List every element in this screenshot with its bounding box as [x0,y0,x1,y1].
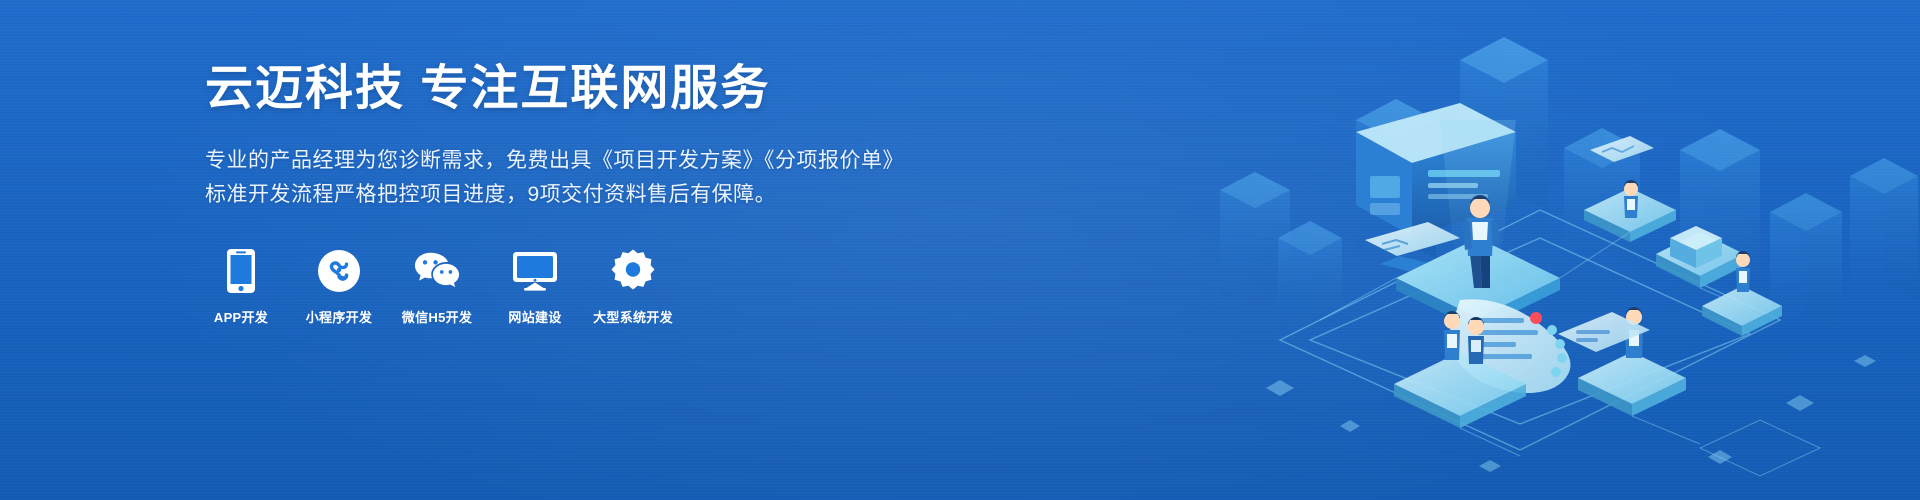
wechat-icon [414,248,460,294]
gear-icon [610,248,656,294]
monitor-icon [512,248,558,294]
background-buildings [1220,37,1918,330]
service-label-wechat: 微信H5开发 [402,307,472,326]
service-item-website[interactable]: 网站建设 [499,248,571,326]
service-list: APP开发 小程序开发 [205,248,965,326]
hero-banner: 云迈科技 专注互联网服务 专业的产品经理为您诊断需求，免费出具《项目开发方案》《… [0,0,1920,500]
service-item-wechat[interactable]: 微信H5开发 [401,248,473,326]
service-item-app[interactable]: APP开发 [205,248,277,326]
service-label-miniprogram: 小程序开发 [306,307,373,326]
mobile-phone-icon [218,248,264,294]
service-label-website: 网站建设 [508,307,561,326]
service-label-system: 大型系统开发 [593,307,673,326]
mini-program-icon [316,248,362,294]
service-item-system[interactable]: 大型系统开发 [597,248,669,326]
banner-headline: 云迈科技 专注互联网服务 [205,60,965,118]
subtitle-line-2: 标准开发流程严格把控项目进度，9项交付资料售后有保障。 [205,178,965,212]
isometric-illustration [1160,0,1920,500]
service-label-app: APP开发 [214,307,268,326]
subtitle-line-1: 专业的产品经理为您诊断需求，免费出具《项目开发方案》《分项报价单》 [205,144,965,178]
banner-content: 云迈科技 专注互联网服务 专业的产品经理为您诊断需求，免费出具《项目开发方案》《… [205,60,965,326]
service-item-miniprogram[interactable]: 小程序开发 [303,248,375,326]
banner-subtitle: 专业的产品经理为您诊断需求，免费出具《项目开发方案》《分项报价单》 标准开发流程… [205,144,965,212]
decorative-particles [1266,355,1876,472]
